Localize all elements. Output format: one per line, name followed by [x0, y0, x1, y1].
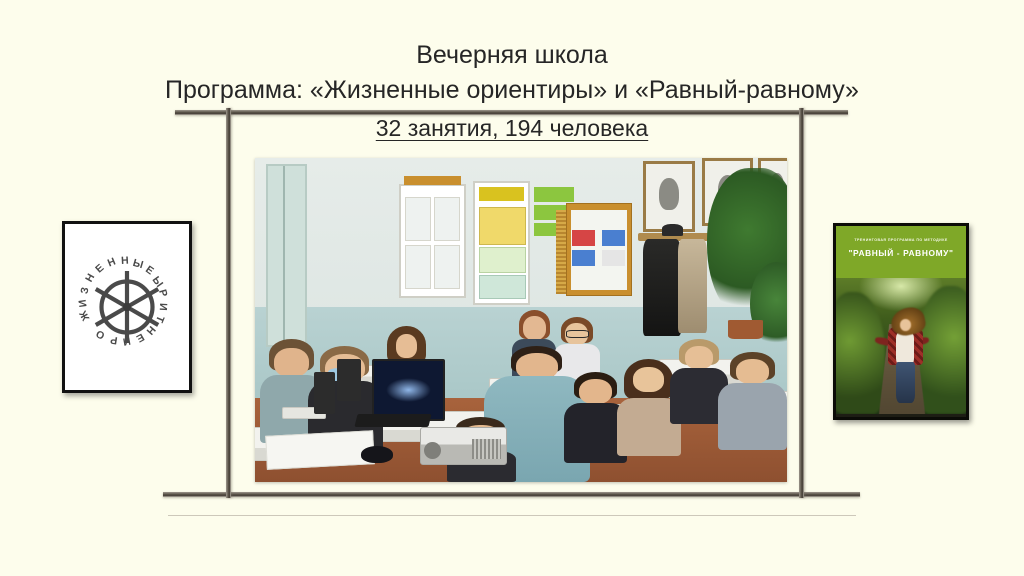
slide-canvas: Вечерняя школа Программа: «Жизненные ори… — [0, 0, 1024, 576]
student — [718, 352, 787, 449]
wall-info-stand — [566, 203, 632, 296]
eyeglasses-icon — [566, 330, 589, 338]
booklet-jeans — [896, 362, 916, 403]
booklet-foliage-right — [917, 286, 966, 414]
title-line-2: Программа: «Жизненные ориентиры» и «Равн… — [0, 73, 1024, 108]
left-vertical-rule — [226, 108, 231, 498]
stand-block — [602, 250, 625, 266]
hat — [662, 224, 683, 235]
student-head — [736, 359, 769, 384]
booklet-header: ТРЕНИНГОВАЯ ПРОГРАММА ПО МЕТОДИКЕ "РАВНЫ… — [836, 226, 966, 278]
computer-mouse — [361, 446, 393, 462]
logo-letter: И — [157, 303, 169, 311]
wall-portrait — [643, 161, 694, 232]
student-head — [633, 367, 664, 392]
poster-header-bar — [479, 187, 524, 200]
poster-block — [479, 207, 526, 245]
whiteboard-edge — [266, 164, 307, 346]
projector-lens — [424, 442, 441, 459]
laptop-screen — [372, 359, 445, 421]
poster-sheet — [434, 197, 460, 241]
student-head — [685, 346, 713, 369]
bottom-horizontal-rule — [163, 492, 860, 497]
poster-sheet — [405, 197, 431, 241]
booklet-foliage-left — [836, 292, 885, 414]
booklet-title: "РАВНЫЙ - РАВНОМУ" — [836, 248, 966, 258]
student-head — [274, 348, 308, 377]
green-note — [534, 187, 574, 202]
logo-inner: ЖИЗНЕННЫЕЫРИТНЕИРО — [65, 224, 189, 390]
booklet-photo — [836, 278, 966, 414]
plant-pot — [728, 320, 763, 339]
speaker — [314, 372, 335, 414]
portrait-head — [659, 178, 679, 209]
student-head — [396, 334, 417, 357]
projector — [420, 427, 507, 465]
speaker — [337, 359, 361, 401]
poster-sheet — [434, 245, 460, 289]
poster-sheet — [405, 245, 431, 289]
subtitle-wrap: 32 занятия, 194 человека — [0, 113, 1024, 143]
wall-poster-russian-language — [473, 181, 530, 305]
student-body — [718, 383, 787, 449]
poster-block — [479, 247, 526, 273]
wall-poster-left — [399, 184, 467, 298]
poster-caption-bar — [404, 176, 460, 185]
booklet-white-top — [896, 332, 914, 365]
logo-letter: Н — [121, 255, 129, 267]
projector-vent — [472, 439, 501, 459]
stand-block — [572, 230, 595, 246]
right-booklet-card: ТРЕНИНГОВАЯ ПРОГРАММА ПО МЕТОДИКЕ "РАВНЫ… — [833, 223, 969, 420]
classroom-session-photo — [255, 158, 787, 482]
beige-coat — [678, 239, 707, 333]
page-title: Вечерняя школа Программа: «Жизненные ори… — [0, 38, 1024, 108]
printed-papers — [265, 431, 375, 471]
subtitle-text: 32 занятия, 194 человека — [376, 113, 648, 143]
stand-block — [602, 230, 625, 246]
screen-glow — [386, 378, 430, 401]
title-line-1: Вечерняя школа — [0, 38, 1024, 73]
dark-coat — [643, 239, 680, 336]
bottom-thin-rule — [168, 515, 856, 516]
stand-block — [572, 250, 595, 266]
laptop-keyboard — [354, 414, 432, 427]
student-head — [579, 379, 612, 404]
booklet-kicker: ТРЕНИНГОВАЯ ПРОГРАММА ПО МЕТОДИКЕ — [836, 237, 966, 243]
left-logo-card: ЖИЗНЕННЫЕЫРИТНЕИРО — [62, 221, 192, 393]
student-head — [523, 316, 546, 340]
poster-block — [479, 275, 526, 299]
ship-wheel-icon: ЖИЗНЕННЫЕЫРИТНЕИРО — [71, 251, 183, 363]
right-vertical-rule — [799, 108, 804, 498]
